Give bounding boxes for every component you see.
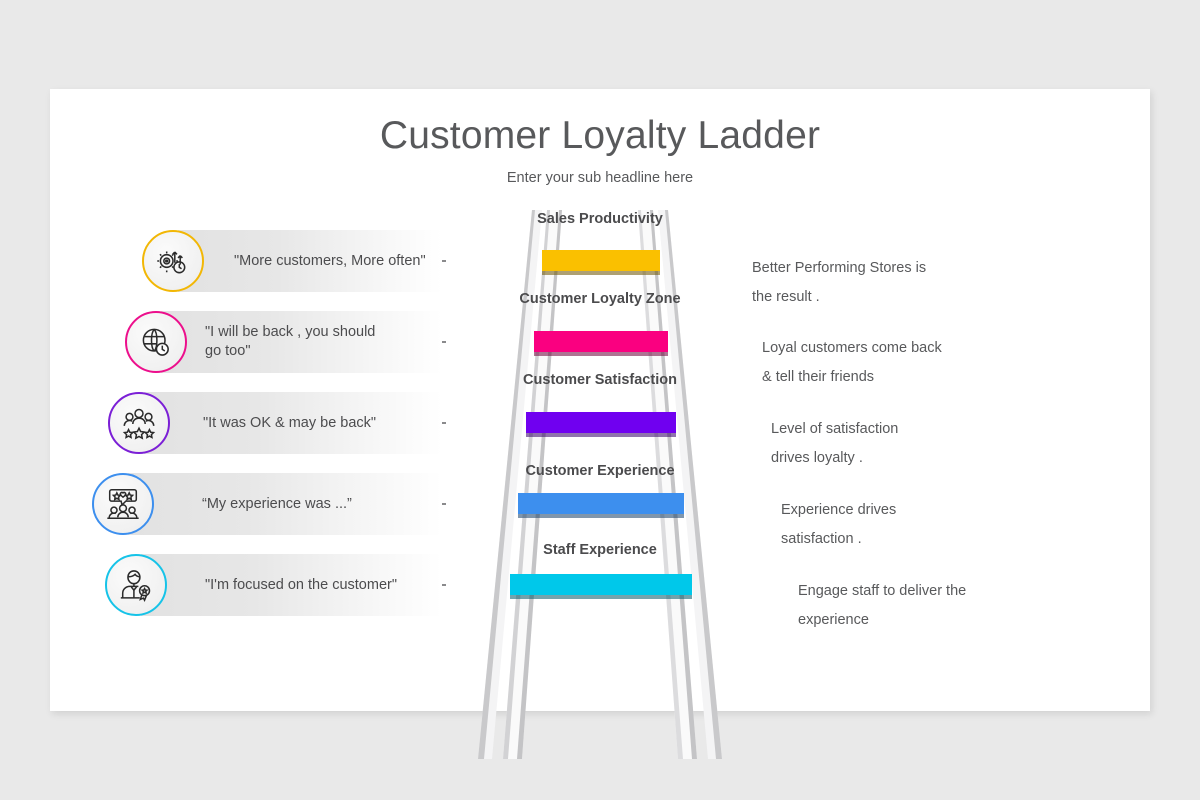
- rung-edge: [518, 514, 684, 518]
- quote-row-3[interactable]: "It was OK & may be back": [108, 392, 452, 454]
- rung-face: [518, 493, 684, 514]
- quote-icon-circle-1[interactable]: [142, 230, 204, 292]
- page-title: Customer Loyalty Ladder: [50, 114, 1150, 158]
- rung-label-customer-satisfaction: Customer Satisfaction: [450, 371, 750, 390]
- feedback-bubble-people-icon: [104, 485, 142, 523]
- people-stars-icon: [120, 404, 158, 442]
- note-text-2: Loyal customers come back & tell their f…: [762, 334, 1032, 392]
- rung-bar-customer-loyalty-zone[interactable]: [534, 331, 668, 357]
- quote-icon-circle-5[interactable]: [105, 554, 167, 616]
- rung-edge: [510, 595, 692, 599]
- rung-face: [534, 331, 668, 352]
- quote-row-2[interactable]: "I will be back , you should go too": [125, 311, 452, 373]
- quote-icon-circle-4[interactable]: [92, 473, 154, 535]
- quote-icon-circle-3[interactable]: [108, 392, 170, 454]
- quote-text-3: "It was OK & may be back": [203, 392, 418, 454]
- quote-row-5[interactable]: "I'm focused on the customer": [105, 554, 452, 616]
- rung-bar-sales-productivity[interactable]: [542, 250, 660, 276]
- rung-face: [542, 250, 660, 271]
- rung-label-staff-experience: Staff Experience: [450, 541, 750, 560]
- globe-clock-icon: [138, 324, 174, 360]
- ladder-graphic: Sales Productivity Customer Loyalty Zone…: [430, 210, 770, 759]
- note-text-1: Better Performing Stores is the result .: [752, 254, 1012, 312]
- rung-edge: [526, 433, 676, 437]
- quote-row-1[interactable]: "More customers, More often": [142, 230, 452, 292]
- quote-icon-circle-2[interactable]: [125, 311, 187, 373]
- rung-bar-staff-experience[interactable]: [510, 574, 692, 600]
- rung-face: [526, 412, 676, 433]
- quote-text-2: "I will be back , you should go too": [205, 311, 420, 373]
- quote-row-4[interactable]: “My experience was ...”: [92, 473, 452, 535]
- quote-text-4: “My experience was ...”: [202, 473, 417, 535]
- note-text-3: Level of satisfaction drives loyalty .: [771, 415, 1031, 473]
- slide-card: Customer Loyalty Ladder Enter your sub h…: [50, 89, 1150, 711]
- gear-growth-clock-icon: [155, 243, 191, 279]
- rung-label-sales-productivity: Sales Productivity: [450, 210, 750, 229]
- rung-face: [510, 574, 692, 595]
- rung-edge: [534, 352, 668, 356]
- staff-award-icon: [117, 566, 155, 604]
- page-subtitle: Enter your sub headline here: [50, 170, 1150, 186]
- note-text-5: Engage staff to deliver the experience: [798, 577, 1068, 635]
- quote-text-1: "More customers, More often": [234, 230, 444, 292]
- rung-bar-customer-experience[interactable]: [518, 493, 684, 519]
- note-text-4: Experience drives satisfaction .: [781, 496, 1041, 554]
- rung-bar-customer-satisfaction[interactable]: [526, 412, 676, 438]
- rung-label-customer-loyalty-zone: Customer Loyalty Zone: [450, 290, 750, 309]
- rung-edge: [542, 271, 660, 275]
- rung-label-customer-experience: Customer Experience: [450, 462, 750, 481]
- quote-text-5: "I'm focused on the customer": [205, 554, 430, 616]
